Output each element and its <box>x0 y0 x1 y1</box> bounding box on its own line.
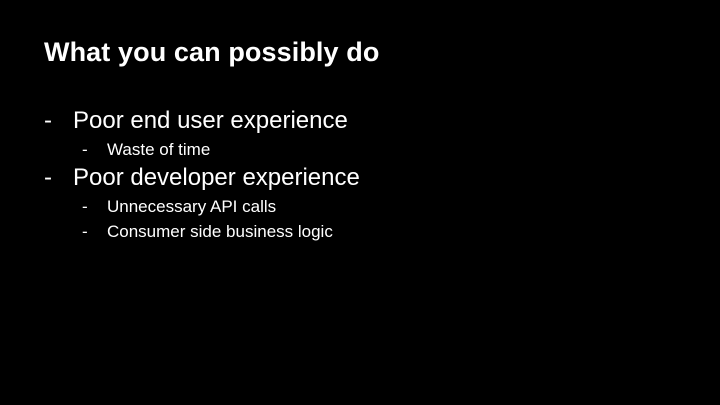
bullet-dash-icon: - <box>82 194 107 219</box>
list-item: - Poor end user experience <box>44 105 684 137</box>
list-item: - Unnecessary API calls <box>44 194 684 219</box>
list-item: - Waste of time <box>44 137 684 162</box>
list-item-label: Poor developer experience <box>73 162 360 194</box>
bullet-dash-icon: - <box>44 162 73 194</box>
presentation-slide: What you can possibly do - Poor end user… <box>0 0 720 405</box>
bullet-dash-icon: - <box>82 219 107 244</box>
list-item-label: Consumer side business logic <box>107 219 333 244</box>
page-title: What you can possibly do <box>44 36 379 70</box>
list-item: - Consumer side business logic <box>44 219 684 244</box>
list-item-label: Waste of time <box>107 137 210 162</box>
bullet-list: - Poor end user experience - Waste of ti… <box>44 105 684 244</box>
bullet-dash-icon: - <box>82 137 107 162</box>
list-item-label: Unnecessary API calls <box>107 194 276 219</box>
list-item-label: Poor end user experience <box>73 105 348 137</box>
list-item: - Poor developer experience <box>44 162 684 194</box>
bullet-dash-icon: - <box>44 105 73 137</box>
